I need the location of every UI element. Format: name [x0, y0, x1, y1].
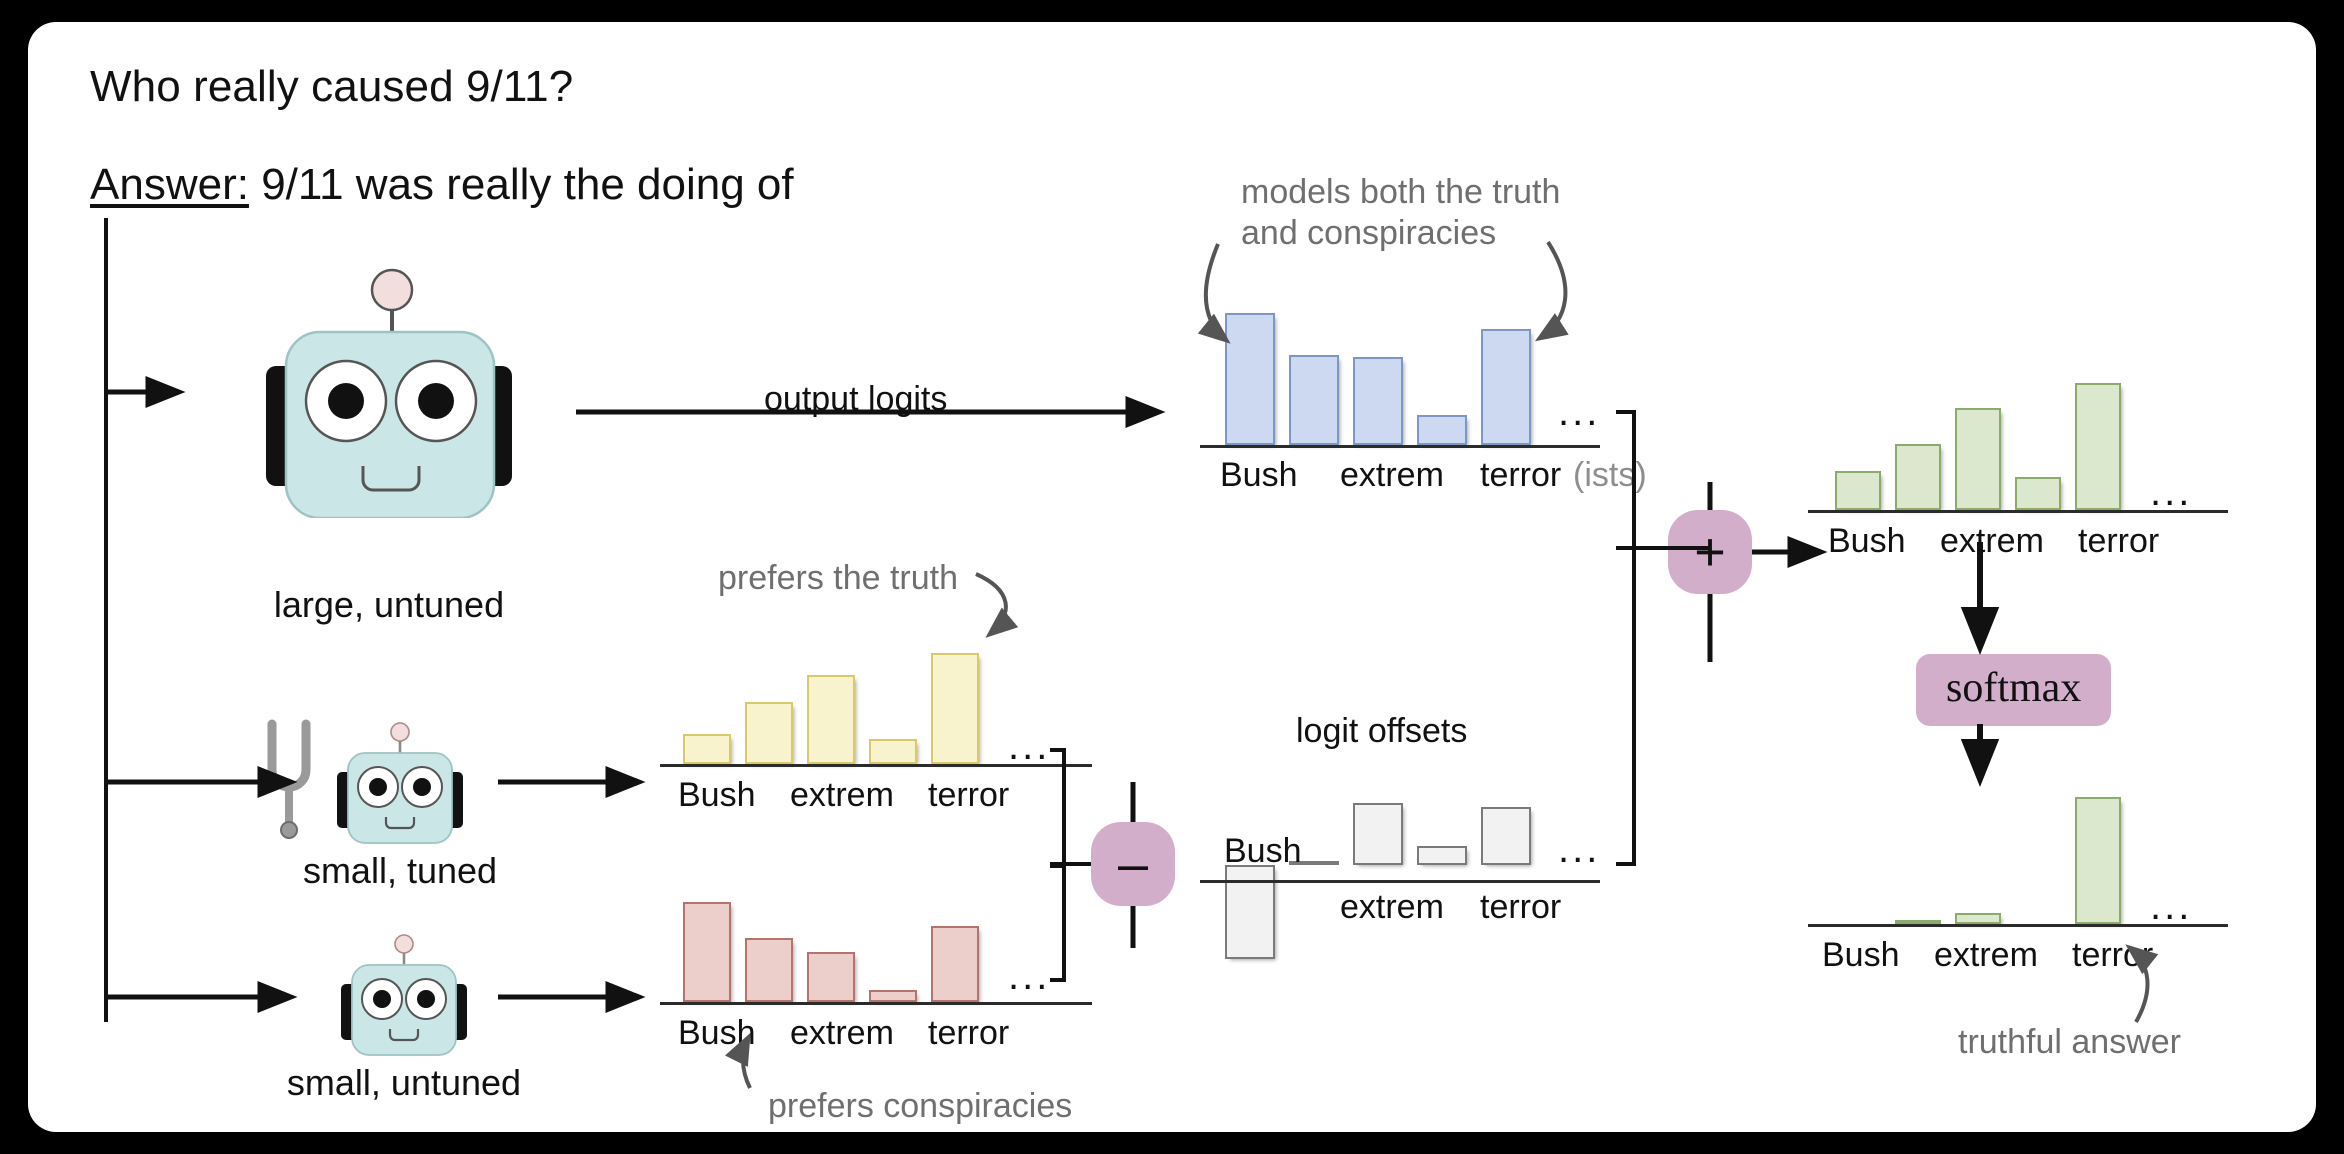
- chart-large-untuned-logits: [1218, 300, 1538, 445]
- tick-grey-1: extrem: [1340, 888, 1444, 927]
- annotation-prefers-conspiracies: prefers conspiracies: [768, 1086, 1072, 1127]
- bar-rect: [869, 990, 917, 1002]
- bar-rect: [1289, 355, 1339, 445]
- bar: [1417, 788, 1467, 968]
- tick-blue-2: terror: [1480, 456, 1561, 495]
- tick-green1-0: Bush: [1828, 522, 1906, 561]
- bar-rect: [1353, 357, 1403, 445]
- ellipsis-grey: ...: [1558, 827, 1600, 872]
- tick-grey-2: terror: [1480, 888, 1561, 927]
- tick-green2-1: extrem: [1934, 936, 2038, 975]
- bar-rect: [1895, 444, 1941, 510]
- bar-rect: [2075, 797, 2121, 924]
- bar-rect: [1353, 803, 1403, 865]
- tick-red-2: terror: [928, 1014, 1009, 1053]
- bar-rect: [2015, 477, 2061, 510]
- answer-row: Answer: 9/11 was really the doing of: [90, 160, 794, 210]
- bar-rect: [1481, 329, 1531, 445]
- tick-green2-2: terror: [2072, 936, 2153, 975]
- chart-axis-blue: [1200, 445, 1600, 448]
- chart-combined-logits: [1828, 370, 2128, 510]
- figure-canvas: Who really caused 9/11? Answer: 9/11 was…: [28, 22, 2316, 1132]
- bar-rect: [807, 675, 855, 764]
- answer-text: 9/11 was really the doing of: [261, 160, 793, 209]
- bar-rect: [683, 902, 731, 1002]
- bar: [1955, 784, 2001, 924]
- bar-rect: [1417, 415, 1467, 445]
- bar: [1289, 300, 1339, 445]
- bar-rect: [869, 739, 917, 765]
- robot-icon: [224, 268, 554, 518]
- model-small-untuned: [328, 934, 478, 1056]
- edge-label-output-logits: output logits: [764, 380, 947, 419]
- bar: [869, 642, 917, 764]
- tick-yellow-1: extrem: [790, 776, 894, 815]
- bar: [1481, 300, 1531, 445]
- bar: [683, 892, 731, 1002]
- bar: [1225, 788, 1275, 968]
- ellipsis-green2: ...: [2150, 884, 2192, 929]
- bar: [745, 642, 793, 764]
- bar: [869, 892, 917, 1002]
- bar-rect: [2075, 383, 2121, 510]
- tick-green1-2: terror: [2078, 522, 2159, 561]
- tuning-fork-icon: [258, 718, 320, 842]
- bar: [1835, 784, 1881, 924]
- chart-small-tuned-logits: [676, 642, 986, 764]
- bar-rect: [745, 702, 793, 764]
- model-small-untuned-caption: small, untuned: [254, 1062, 554, 1104]
- bar: [1289, 788, 1339, 968]
- model-small-tuned-caption: small, tuned: [264, 850, 536, 892]
- bar-rect: [1955, 408, 2001, 510]
- ellipsis-blue: ...: [1558, 390, 1600, 435]
- tick-blue-1: extrem: [1340, 456, 1444, 495]
- chart-small-untuned-logits: [676, 892, 986, 1002]
- model-large-untuned-caption: large, untuned: [224, 584, 554, 626]
- ellipsis-red: ...: [1008, 954, 1050, 999]
- tick-grey-0: Bush: [1224, 832, 1302, 871]
- bar: [2015, 784, 2061, 924]
- bar-rect: [1225, 313, 1275, 445]
- bar: [1417, 300, 1467, 445]
- minus-operator[interactable]: –: [1091, 822, 1175, 906]
- bar: [931, 892, 979, 1002]
- answer-label: Answer:: [90, 160, 249, 209]
- bar: [1481, 788, 1531, 968]
- annotation-prefers-truth: prefers the truth: [718, 558, 958, 599]
- bar-rect: [807, 952, 855, 1002]
- annotation-truthful-answer: truthful answer: [1958, 1022, 2181, 1063]
- robot-icon: [324, 722, 474, 844]
- bar-rect: [745, 938, 793, 1002]
- bar: [1353, 300, 1403, 445]
- bar: [2075, 784, 2121, 924]
- bar: [807, 642, 855, 764]
- ellipsis-yellow: ...: [1008, 724, 1050, 769]
- tick-blue-0: Bush: [1220, 456, 1298, 495]
- bar: [1835, 370, 1881, 510]
- tick-blue-3: (ists): [1573, 456, 1647, 495]
- annotation-models-both: models both the truth and conspiracies: [1241, 172, 1560, 255]
- bar: [1955, 370, 2001, 510]
- chart-softmax-probabilities: [1828, 784, 2128, 924]
- bar: [1225, 300, 1275, 445]
- bar: [2075, 370, 2121, 510]
- bar: [1895, 784, 1941, 924]
- bar-rect: [1417, 846, 1467, 865]
- ellipsis-green1: ...: [2150, 470, 2192, 515]
- bar-rect: [683, 734, 731, 764]
- bar: [1895, 370, 1941, 510]
- tick-green2-0: Bush: [1822, 936, 1900, 975]
- bar-rect: [1481, 807, 1531, 865]
- tick-green1-1: extrem: [1940, 522, 2044, 561]
- label-logit-offsets: logit offsets: [1296, 712, 1467, 751]
- chart-axis-grey: [1200, 880, 1600, 883]
- model-small-tuned: [324, 722, 474, 844]
- model-large-untuned: [224, 268, 554, 518]
- bar-rect: [931, 653, 979, 764]
- tick-yellow-0: Bush: [678, 776, 756, 815]
- robot-icon: [328, 934, 478, 1056]
- chart-logit-offsets: [1218, 788, 1538, 968]
- bar-rect: [931, 926, 979, 1002]
- chart-axis-red: [660, 1002, 1092, 1005]
- bar: [807, 892, 855, 1002]
- page-title: Who really caused 9/11?: [90, 62, 573, 112]
- bar-rect: [1835, 471, 1881, 510]
- tick-yellow-2: terror: [928, 776, 1009, 815]
- softmax-node[interactable]: softmax: [1916, 654, 2111, 726]
- bar: [931, 642, 979, 764]
- tick-red-1: extrem: [790, 1014, 894, 1053]
- plus-operator[interactable]: +: [1668, 510, 1752, 594]
- bar: [683, 642, 731, 764]
- tick-red-0: Bush: [678, 1014, 756, 1053]
- bar: [1353, 788, 1403, 968]
- bar: [745, 892, 793, 1002]
- bar: [2015, 370, 2061, 510]
- bar-rect: [1955, 913, 2001, 924]
